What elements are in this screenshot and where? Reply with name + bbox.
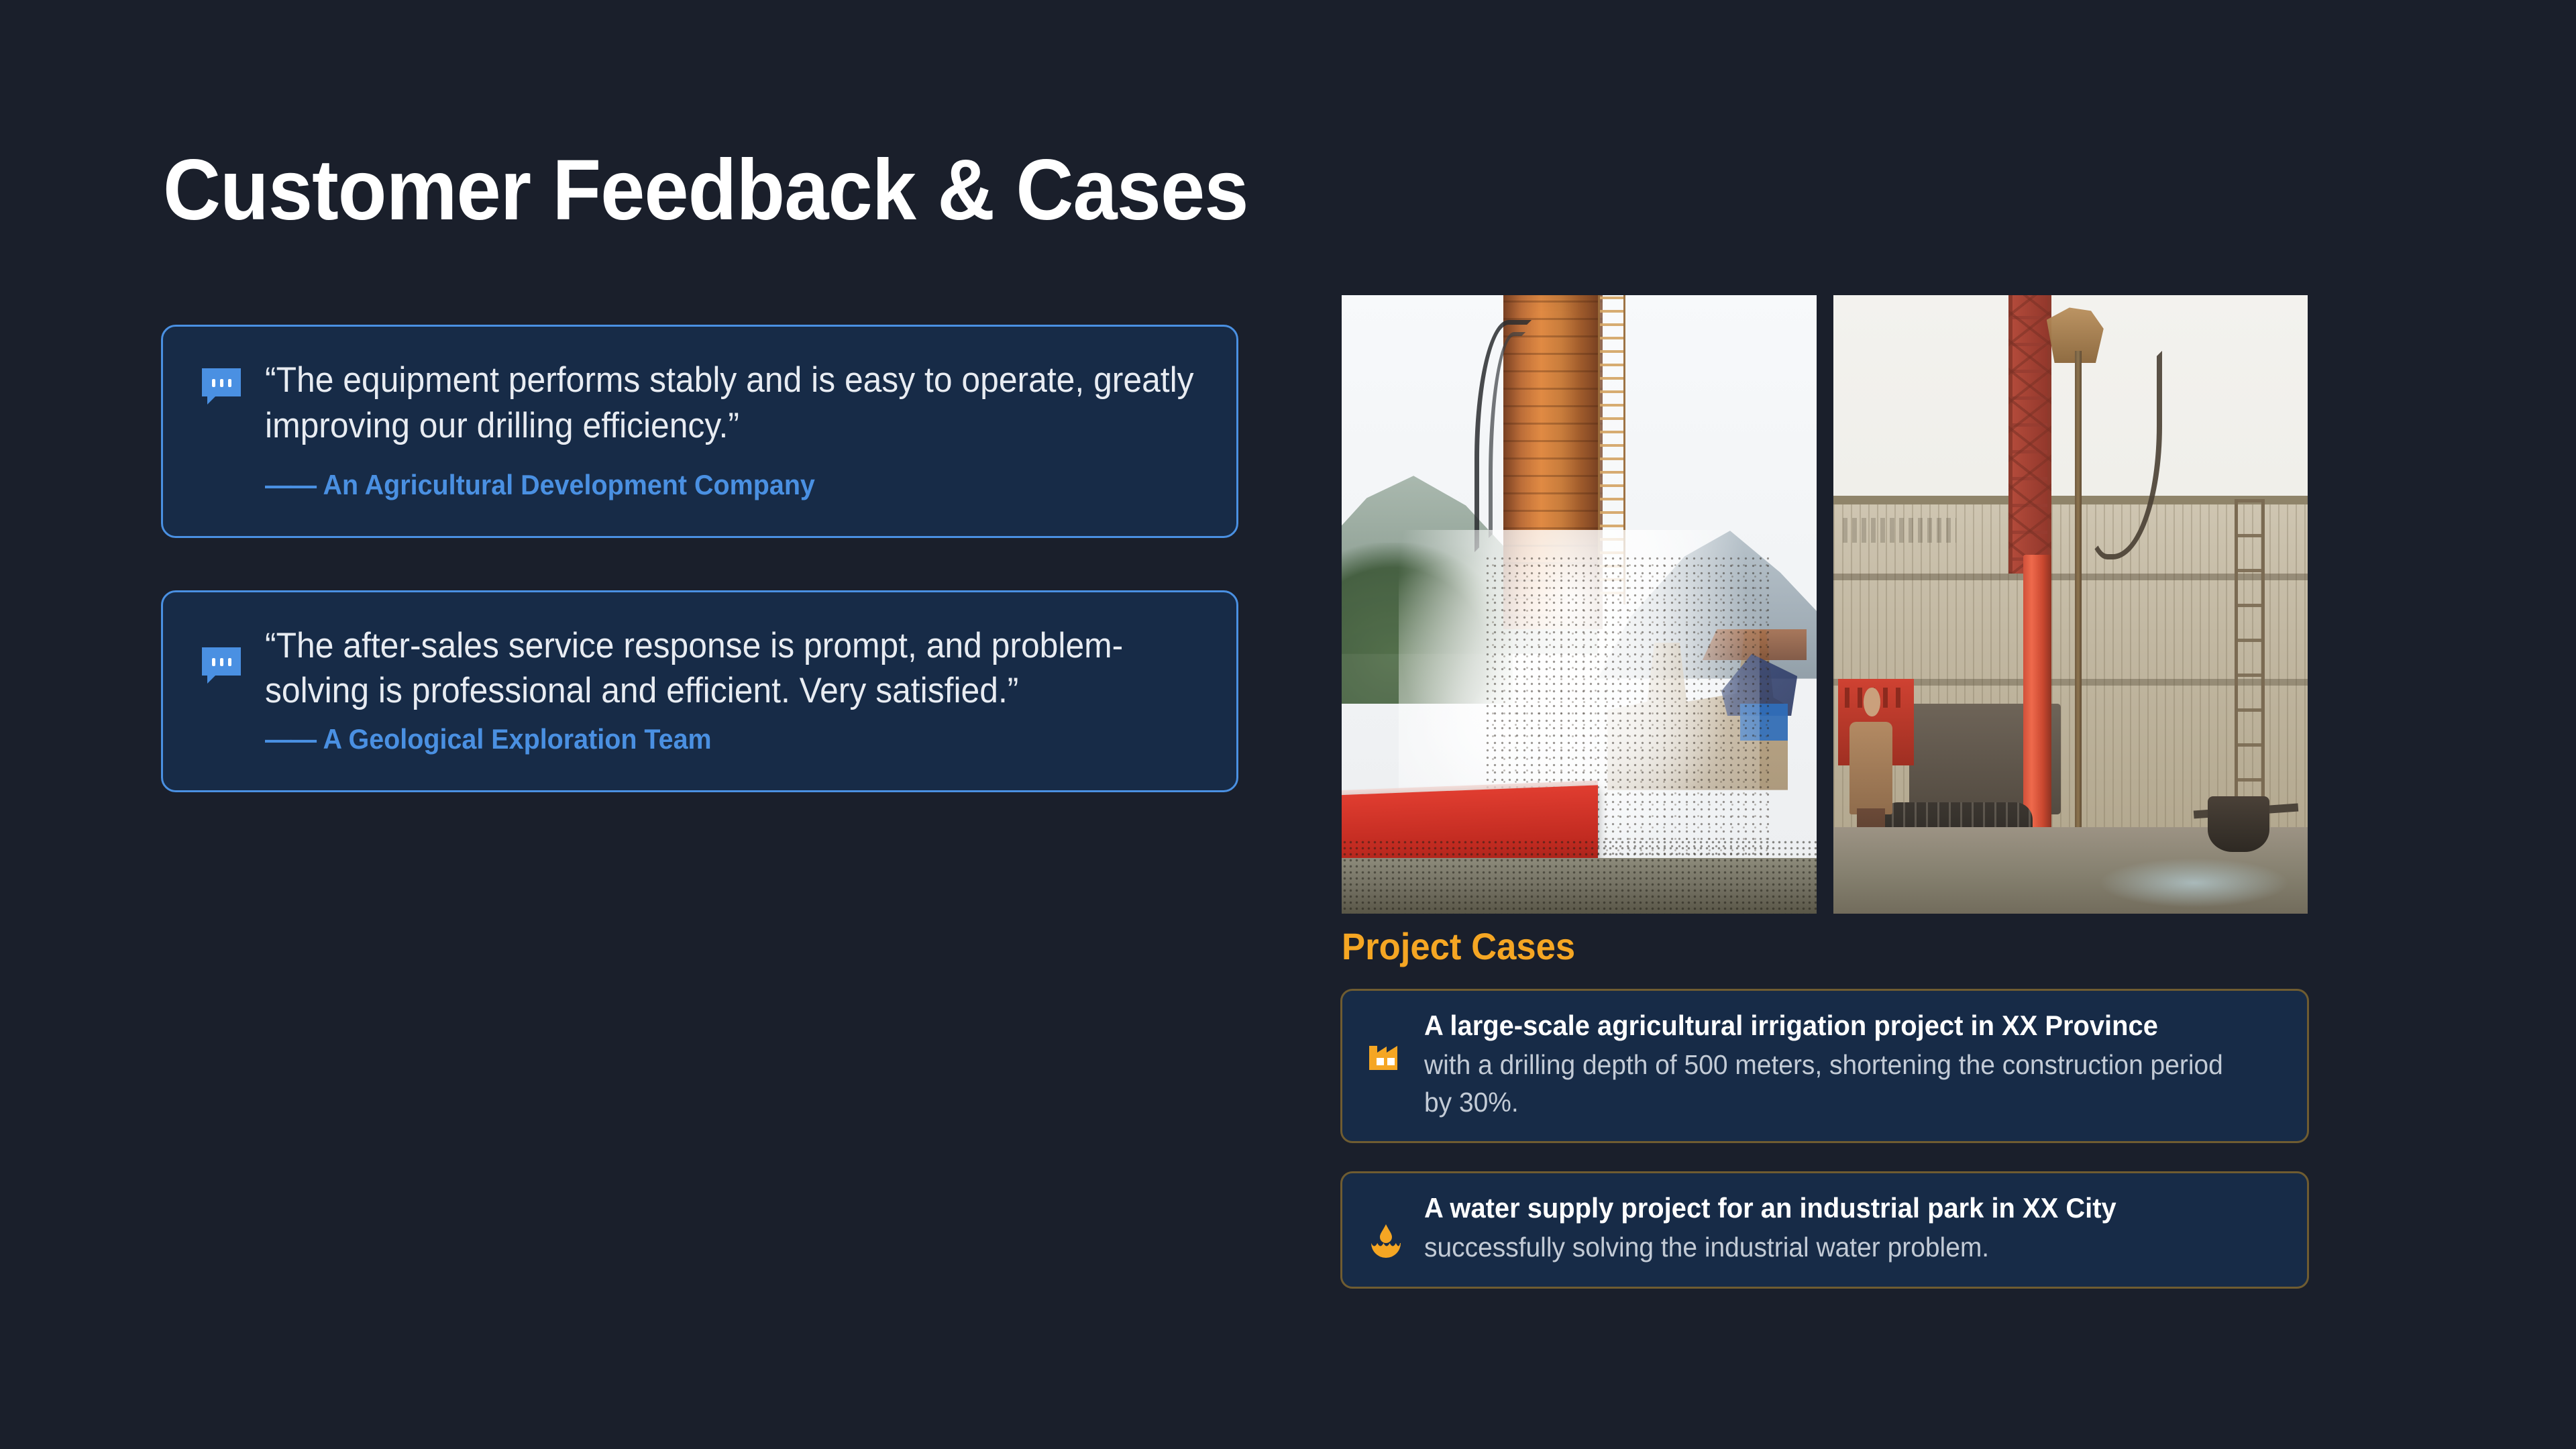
project-case-card-2[interactable]: A water supply project for an industrial… <box>1340 1171 2309 1289</box>
factory-icon <box>1365 1032 1407 1077</box>
photo-gallery <box>1342 295 2308 914</box>
attribution-dash: —— <box>265 723 315 755</box>
drilling-rig-water-spray-photo <box>1342 295 1817 914</box>
speech-bubble-icon <box>201 646 242 691</box>
project-cases-heading: Project Cases <box>1342 924 1575 968</box>
project-case-title: A large-scale agricultural irrigation pr… <box>1424 1008 2241 1044</box>
testimonial-card-1[interactable]: “The equipment performs stably and is ea… <box>161 325 1238 538</box>
crawler-drill-rig-site-photo <box>1833 295 2308 914</box>
project-cases-list: A large-scale agricultural irrigation pr… <box>1340 989 2309 1289</box>
project-case-description: successfully solving the industrial wate… <box>1424 1229 2241 1267</box>
testimonial-quote: “The after-sales service response is pro… <box>265 623 1199 714</box>
attribution-name: An Agricultural Development Company <box>323 469 814 500</box>
testimonial-card-2[interactable]: “The after-sales service response is pro… <box>161 590 1238 793</box>
testimonial-attribution: ——An Agricultural Development Company <box>265 469 1142 501</box>
water-drop-icon <box>1365 1220 1407 1265</box>
speech-bubble-icon <box>201 367 242 412</box>
project-case-description: with a drilling depth of 500 meters, sho… <box>1424 1046 2241 1122</box>
attribution-dash: —— <box>265 469 315 500</box>
project-case-title: A water supply project for an industrial… <box>1424 1191 2241 1226</box>
page-title: Customer Feedback & Cases <box>163 148 1248 233</box>
slide-root: Customer Feedback & Cases “The equipment… <box>0 0 2576 1449</box>
testimonial-quote: “The equipment performs stably and is ea… <box>265 358 1199 449</box>
testimonial-attribution: ——A Geological Exploration Team <box>265 723 1142 755</box>
testimonials-section: “The equipment performs stably and is ea… <box>161 325 1238 792</box>
attribution-name: A Geological Exploration Team <box>323 723 711 755</box>
project-case-card-1[interactable]: A large-scale agricultural irrigation pr… <box>1340 989 2309 1143</box>
